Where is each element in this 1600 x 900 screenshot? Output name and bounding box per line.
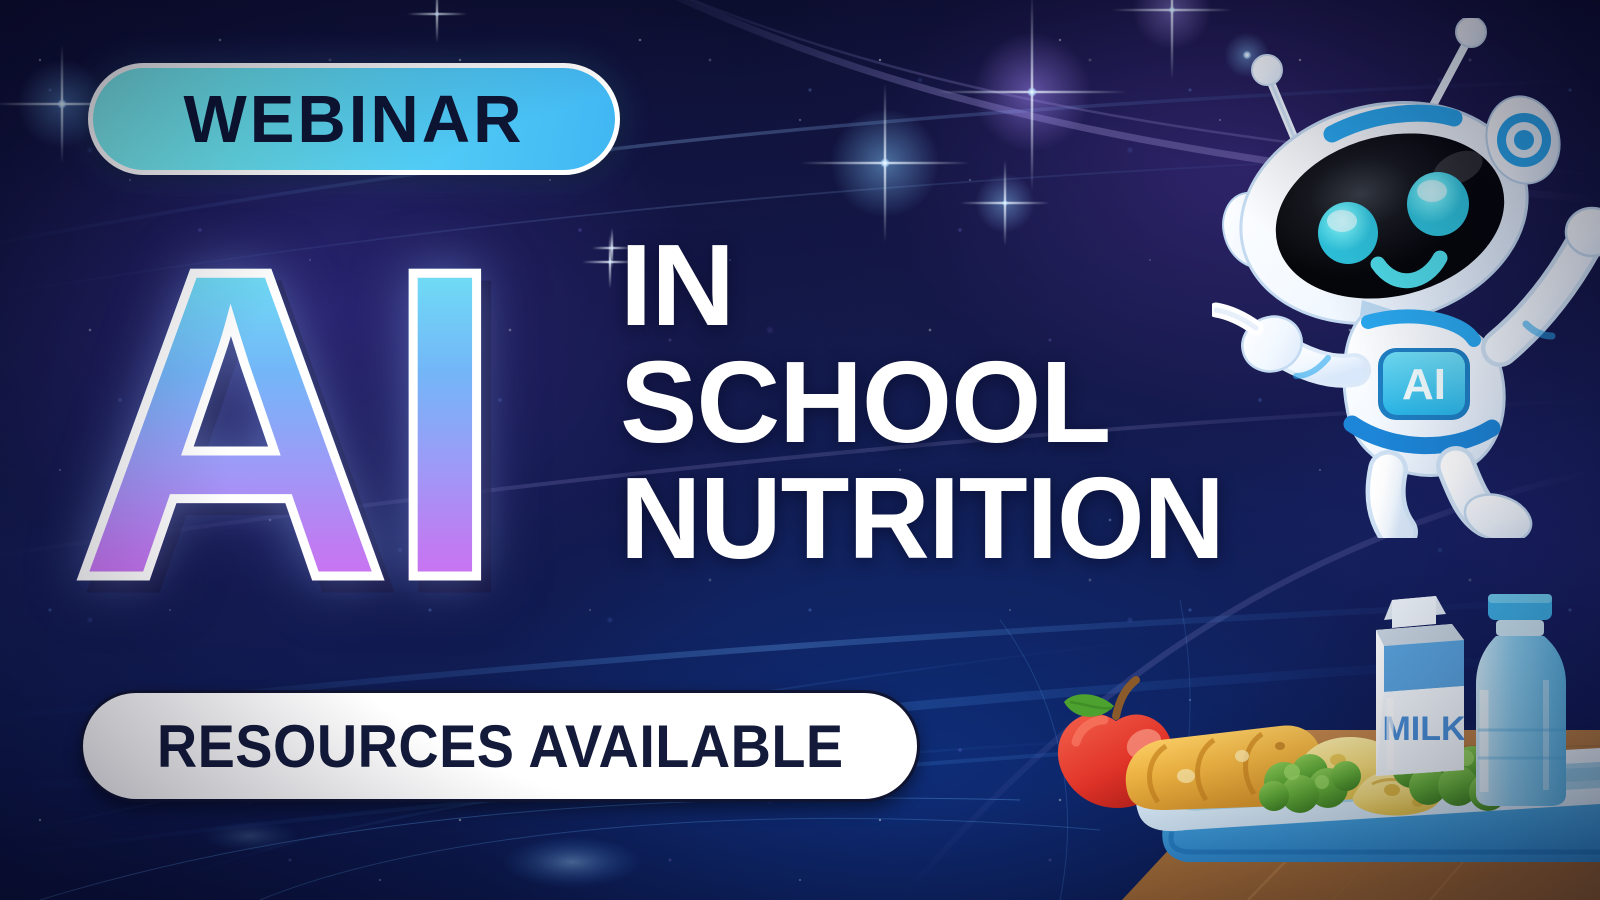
water-bottle [1476, 594, 1566, 806]
ai-wordmark: AI [68, 190, 588, 660]
robot-legs [1386, 466, 1538, 538]
lunch-tray-scene: MILK [980, 580, 1600, 900]
resources-pill-label: RESOURCES AVAILABLE [157, 712, 844, 781]
resources-available-pill[interactable]: RESOURCES AVAILABLE [80, 690, 920, 802]
milk-carton: MILK [1376, 596, 1466, 776]
webinar-banner: WEBINAR AI IN SCHOOL NUTRITION [0, 0, 1600, 900]
ai-wordmark-text: AI [72, 205, 500, 645]
apple-stem [1116, 680, 1136, 716]
webinar-badge-label: WEBINAR [183, 86, 524, 153]
robot-mascot: AI [1212, 18, 1600, 538]
robot-torso: AI [1344, 312, 1504, 475]
milk-carton-label: MILK [1382, 710, 1466, 748]
robot-chest-badge-label: AI [1402, 360, 1446, 409]
webinar-badge[interactable]: WEBINAR [88, 63, 620, 175]
robot-chest-badge: AI [1378, 348, 1470, 420]
